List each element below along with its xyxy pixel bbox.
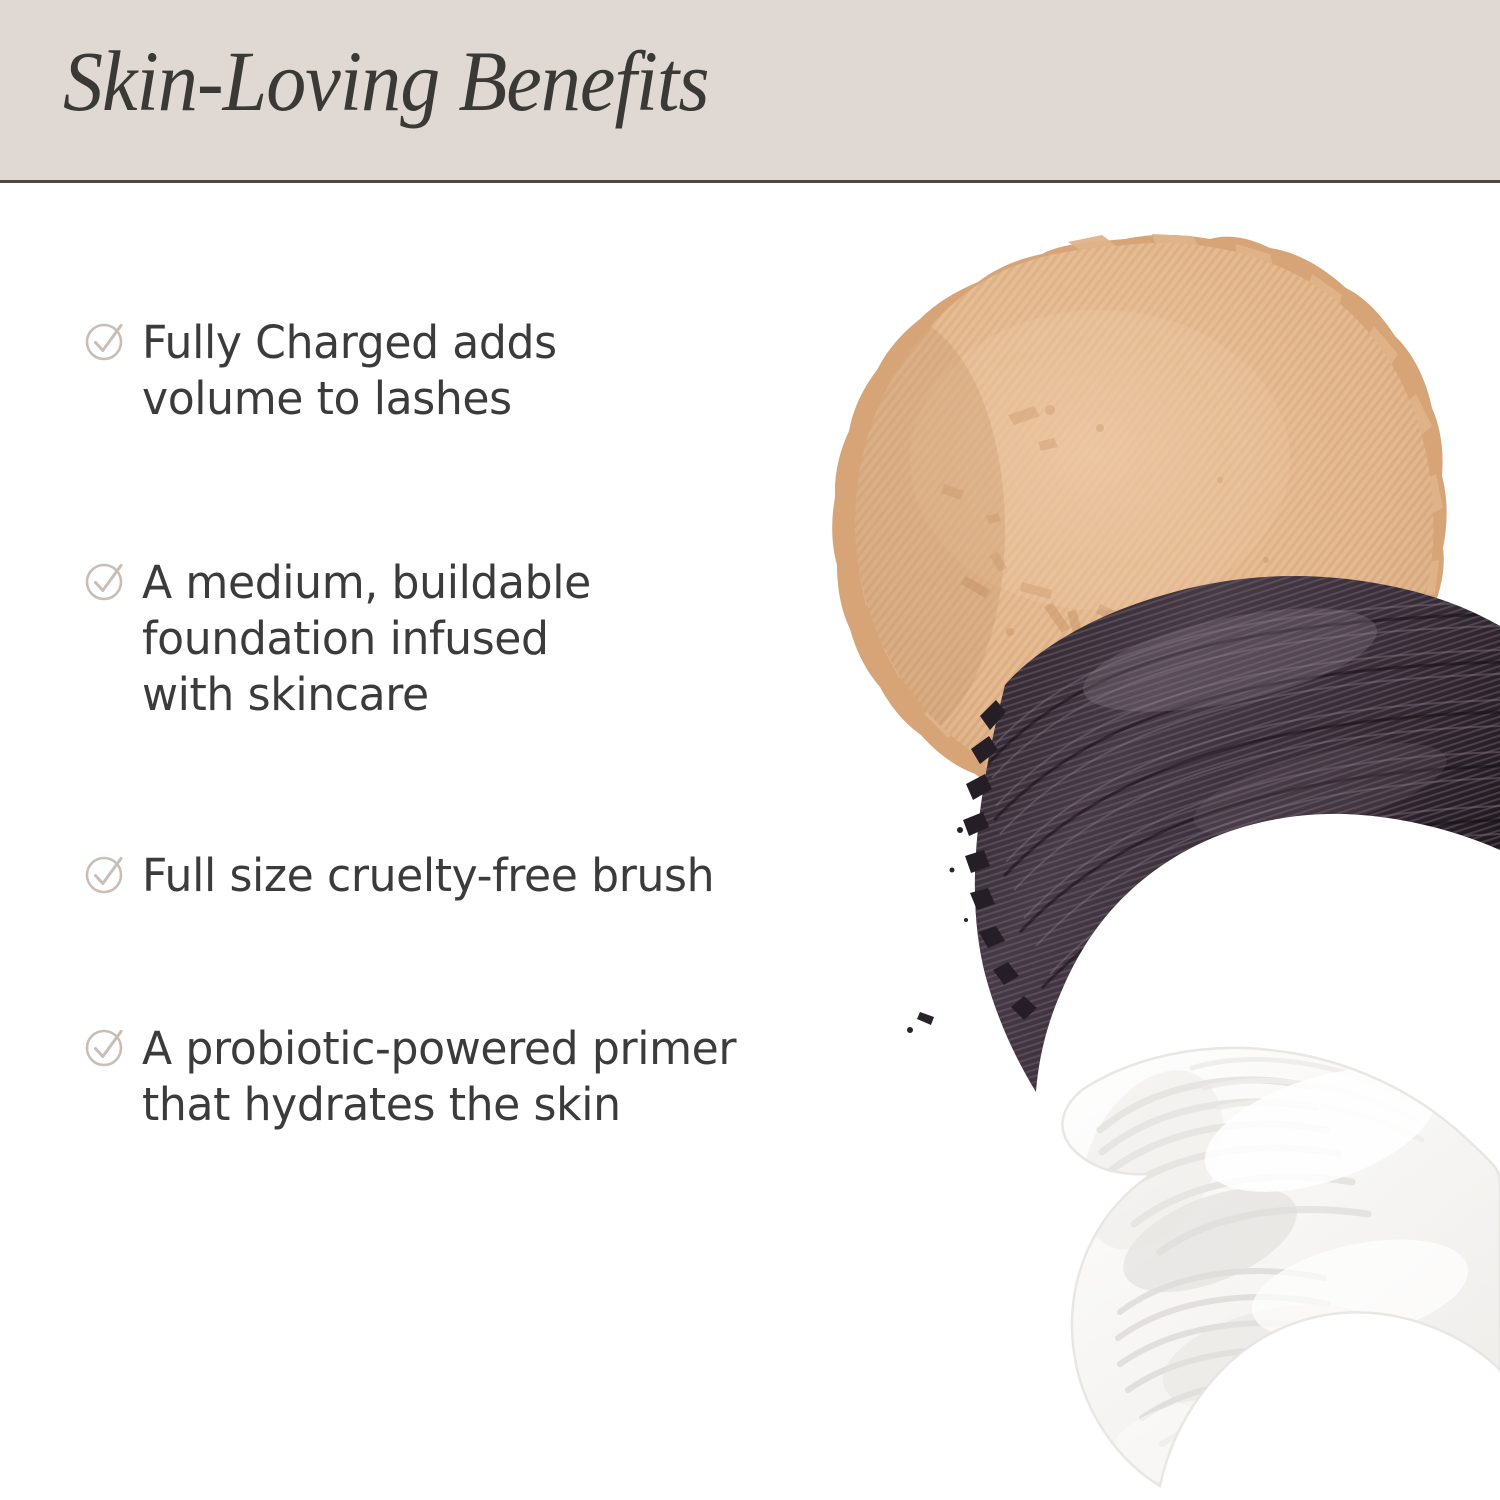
product-swatch-artwork xyxy=(800,230,1500,1500)
benefit-item: A medium, buildable foundation infused w… xyxy=(84,555,600,723)
benefit-item-label: Full size cruelty-free brush xyxy=(142,848,714,904)
benefit-item: Fully Charged adds volume to lashes xyxy=(84,315,565,427)
header-band: Skin-Loving Benefits xyxy=(0,0,1500,183)
page-title: Skin-Loving Benefits xyxy=(63,38,709,124)
benefit-item-label: Fully Charged adds volume to lashes xyxy=(142,315,557,427)
check-circle-icon xyxy=(84,1025,128,1069)
primer-cream-swatch xyxy=(1040,1030,1500,1500)
benefit-item: A probiotic-powered primer that hydrates… xyxy=(84,1021,748,1133)
benefit-item-label: A medium, buildable foundation infused w… xyxy=(142,555,591,723)
check-circle-icon xyxy=(84,852,128,896)
check-circle-icon xyxy=(84,319,128,363)
benefit-item: Full size cruelty-free brush xyxy=(84,848,726,904)
benefit-item-label: A probiotic-powered primer that hydrates… xyxy=(142,1021,736,1133)
check-circle-icon xyxy=(84,559,128,603)
